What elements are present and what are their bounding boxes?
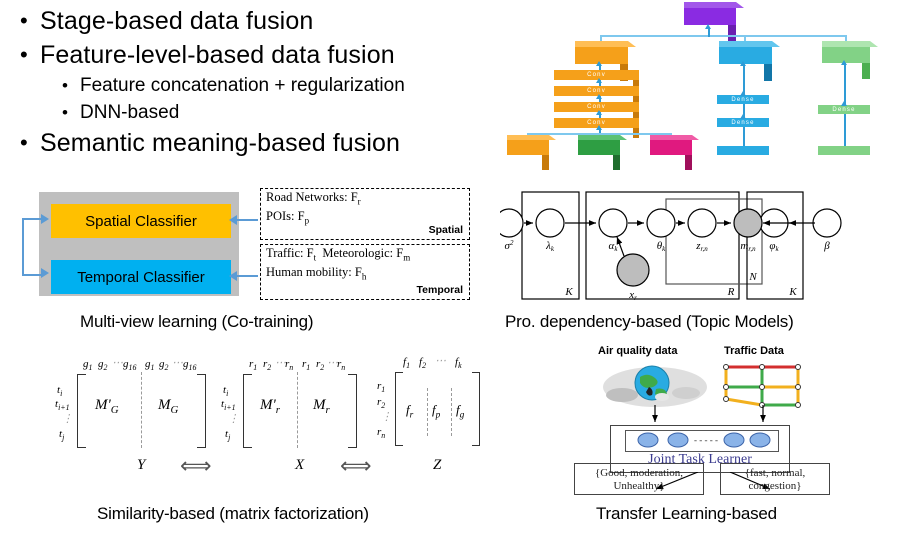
input-block-green <box>578 140 620 155</box>
bullet-list: • Stage-based data fusion • Feature-leve… <box>10 4 480 160</box>
Y-row-label-0: ti <box>57 384 62 398</box>
plate-label-K2: K <box>788 286 797 298</box>
temporal-feed-arrowhead-icon <box>229 271 237 281</box>
Z-row-label-3: rn <box>377 426 385 440</box>
dense-label: Dense <box>818 105 870 114</box>
dense-layer-blue: Dense <box>717 118 769 127</box>
list-item: • Stage-based data fusion <box>20 4 480 38</box>
bullet-text: Feature-level-based data fusion <box>40 38 395 72</box>
X-row-label-1: ti+1 <box>221 398 236 412</box>
output-line-1: {Good, moderation, <box>575 467 703 480</box>
bullet-text: Semantic meaning-based fusion <box>40 126 400 160</box>
bullet-dot-icon: • <box>20 126 40 160</box>
Y-col-header-g16: g16 <box>123 358 136 372</box>
transfer-learning-diagram: Air quality data Traffic Data <box>570 345 860 495</box>
label-m: mr,n <box>740 240 756 253</box>
Y-divider <box>141 372 142 448</box>
node-theta <box>647 209 675 237</box>
Y-col-ellipsis-2: ⋯ <box>172 356 183 369</box>
X-col-header-r2: r2 <box>263 358 271 372</box>
topic-model-plate-diagram: σ2 λk αk θk zr,n mr,n φk β xr K N R K <box>500 185 900 305</box>
X-cell-M: Mr <box>313 397 330 416</box>
svg-text:- - - - -: - - - - - <box>694 435 718 445</box>
bullet-dot-icon: • <box>20 4 40 38</box>
label-xr: xr <box>628 289 637 302</box>
spatial-tag: Spatial <box>429 224 463 236</box>
loop-arrowhead-bottom-icon <box>41 268 49 278</box>
transfer-caption: Transfer Learning-based <box>596 504 777 524</box>
label-z: zr,n <box>695 240 708 253</box>
Z-col-header-f1: f1 <box>403 356 410 370</box>
list-item: • Semantic meaning-based fusion <box>20 126 480 160</box>
bullet-text: Feature concatenation + regularization <box>80 72 405 99</box>
bullet-dot-icon: • <box>62 99 80 126</box>
Z-cell-fr: fr <box>406 402 413 421</box>
hidden-layer-container: - - - - - <box>625 430 779 452</box>
Y-cell-Mprime: M'G <box>95 397 119 416</box>
label-sigma: σ2 <box>505 239 514 252</box>
X-row-label-0: ti <box>223 384 228 398</box>
blue-branch-spine <box>743 64 745 150</box>
matrix-caption: Similarity-based (matrix factorization) <box>97 504 369 524</box>
plate-label-K1: K <box>564 286 573 298</box>
fusion-to-output-line <box>708 28 710 37</box>
spatial-feature-line-1: Road Networks: Fr <box>261 189 469 208</box>
label-beta: β <box>823 240 830 252</box>
Y-row-label-3: tj <box>59 428 64 442</box>
Z-row-label-0: r1 <box>377 380 385 394</box>
spatial-classifier-box: Spatial Classifier <box>51 204 231 238</box>
Y-cell-M: MG <box>158 397 178 416</box>
bullet-text: DNN-based <box>80 99 179 126</box>
Y-col-ellipsis-1: ⋯ <box>112 356 123 369</box>
Z-cell-fg: fg <box>456 402 464 421</box>
X-divider <box>297 372 298 448</box>
equiv-symbol-1: ⟺ <box>180 453 212 479</box>
dense-label: Dense <box>717 95 769 104</box>
conv-arrow-1-icon <box>596 78 602 83</box>
dense-layer-blue: Dense <box>717 95 769 104</box>
Y-col-header-g2-b: g2 <box>159 358 168 372</box>
input-merge-arrow-icon <box>596 125 602 130</box>
Y-col-header-g1-b: g1 <box>145 358 154 372</box>
label-lambda: λk <box>545 240 555 253</box>
label-theta: θk <box>657 240 666 253</box>
node-alpha <box>599 209 627 237</box>
dense-label: Dense <box>717 118 769 127</box>
node-xr-observed <box>617 254 649 286</box>
output-line-2: Unhealthy} <box>575 480 703 493</box>
Y-row-label-ellipsis: ⋮ <box>62 412 73 425</box>
Z-name: Z <box>433 457 441 474</box>
plate-caption: Pro. dependency-based (Topic Models) <box>505 312 794 332</box>
X-bracket-left <box>243 374 252 448</box>
X-row-label-3: tj <box>225 428 230 442</box>
temporal-classifier-box: Temporal Classifier <box>51 260 231 294</box>
label-phi: φk <box>769 240 779 253</box>
output-box-traffic: {fast, normal, congestion} <box>720 463 830 495</box>
traffic-data-title: Traffic Data <box>724 345 784 357</box>
Z-col-ellipsis: ⋯ <box>435 354 446 367</box>
air-quality-illustration <box>600 359 710 409</box>
list-item: • DNN-based <box>62 99 480 126</box>
conv-arrow-2-icon <box>596 94 602 99</box>
X-cell-Mprime: M'r <box>260 397 280 416</box>
source-to-learner-arrows <box>630 405 810 427</box>
conv-arrow-3-icon <box>596 110 602 115</box>
pois-sub: p <box>305 215 310 225</box>
Z-divider-1 <box>427 388 428 436</box>
Y-col-header-g1: g1 <box>83 358 92 372</box>
traffic-text: Traffic: F <box>266 246 314 260</box>
X-col-header-rn: rn <box>285 358 293 372</box>
X-col-header-r1-b: r1 <box>302 358 310 372</box>
feature-panel: Road Networks: Fr POIs: Fp Spatial Traff… <box>260 188 472 300</box>
X-row-label-ellipsis: ⋮ <box>228 412 239 425</box>
matrix-factorization-diagram: ti ti+1 ⋮ tj g1 g2 ⋯ g16 g1 g2 ⋯ g16 M'G… <box>55 352 485 482</box>
node-sigma <box>500 209 523 237</box>
Z-cell-fp: fp <box>432 402 440 421</box>
input-layer-blue <box>717 146 769 155</box>
temporal-tag: Temporal <box>417 284 463 296</box>
output-line-1: {fast, normal, <box>721 467 829 480</box>
label-alpha: αk <box>609 240 619 253</box>
node-beta <box>813 209 841 237</box>
temporal-feed-line <box>234 275 258 277</box>
fusion-arrowhead-icon <box>705 24 711 29</box>
spatial-classifier-label: Spatial Classifier <box>85 213 197 230</box>
Z-bracket-right <box>472 372 480 446</box>
output-block-purple <box>684 8 736 25</box>
Z-col-header-fk: fk <box>455 356 462 370</box>
loop-arrowhead-top-icon <box>41 214 49 224</box>
traffic-sub: t <box>314 253 317 263</box>
fusion-bus-line <box>600 35 846 37</box>
green-branch-arrow-icon <box>841 60 847 65</box>
human-mobility-text: Human mobility: F <box>266 265 362 279</box>
Z-col-header-f2: f2 <box>419 356 426 370</box>
output-box-air-quality: {Good, moderation, Unhealthy} <box>574 463 704 495</box>
temporal-feature-line-2: Human mobility: Fh <box>261 264 469 283</box>
temporal-feature-box: Traffic: Ft Meteorologic: Fm Human mobil… <box>260 244 470 300</box>
dense-layer-green: Dense <box>818 105 870 114</box>
spatial-feed-line <box>234 219 258 221</box>
spatial-feature-box: Road Networks: Fr POIs: Fp Spatial <box>260 188 470 240</box>
node-m-observed <box>734 209 762 237</box>
X-bracket-right <box>348 374 357 448</box>
input-layer-green <box>818 146 870 155</box>
air-quality-title: Air quality data <box>598 345 677 357</box>
equiv-symbol-2: ⟺ <box>340 453 372 479</box>
bullet-dot-icon: • <box>20 38 40 72</box>
conv-arrow-0-icon <box>596 61 602 66</box>
Z-row-label-ellipsis: ⋮ <box>381 410 392 423</box>
dense-arrow-blue-1-icon <box>740 91 746 96</box>
plate-label-R: R <box>727 286 735 298</box>
multiview-caption: Multi-view learning (Co-training) <box>80 312 313 332</box>
node-lambda <box>536 209 564 237</box>
Y-name: Y <box>137 457 145 474</box>
output-line-2: congestion} <box>721 480 829 493</box>
Y-row-label-1: ti+1 <box>55 398 70 412</box>
meteorologic-text: Meteorologic: F <box>322 246 403 260</box>
input-block-orange <box>507 140 549 155</box>
plate-label-N: N <box>748 271 757 283</box>
road-networks-text: Road Networks: F <box>266 190 358 204</box>
X-col-header-r1: r1 <box>249 358 257 372</box>
blue-branch-arrow-icon <box>740 61 746 66</box>
Z-divider-2 <box>451 388 452 436</box>
bullet-text: Stage-based data fusion <box>40 4 313 38</box>
node-z <box>688 209 716 237</box>
X-col-header-r2-b: r2 <box>316 358 324 372</box>
dense-arrow-blue-2-icon <box>740 114 746 119</box>
Y-col-header-g16-b: g16 <box>183 358 196 372</box>
Z-bracket-left <box>395 372 403 446</box>
X-name: X <box>295 457 304 474</box>
bullet-dot-icon: • <box>62 72 80 99</box>
dnn-architecture-diagram: Conv Conv Conv Conv <box>495 0 909 175</box>
list-item: • Feature-level-based data fusion <box>20 38 480 72</box>
temporal-feature-line-1: Traffic: Ft Meteorologic: Fm <box>261 245 469 264</box>
pois-text: POIs: F <box>266 209 305 223</box>
spatial-feed-arrowhead-icon <box>229 215 237 225</box>
Z-row-label-1: r2 <box>377 396 385 410</box>
road-networks-sub: r <box>358 197 361 207</box>
dense-arrow-green-icon <box>841 101 847 106</box>
human-mobility-sub: h <box>362 271 367 281</box>
Y-col-header-g2: g2 <box>98 358 107 372</box>
temporal-classifier-label: Temporal Classifier <box>77 269 205 286</box>
meteorologic-sub: m <box>403 253 410 263</box>
list-item: • Feature concatenation + regularization <box>62 72 480 99</box>
X-col-header-rn-b: rn <box>337 358 345 372</box>
input-block-magenta <box>650 140 692 155</box>
multiview-learning-diagram: Spatial Classifier Temporal Classifier R… <box>22 188 472 303</box>
Y-bracket-left <box>77 374 86 448</box>
Y-bracket-right <box>197 374 206 448</box>
traffic-graph-illustration <box>720 361 810 411</box>
